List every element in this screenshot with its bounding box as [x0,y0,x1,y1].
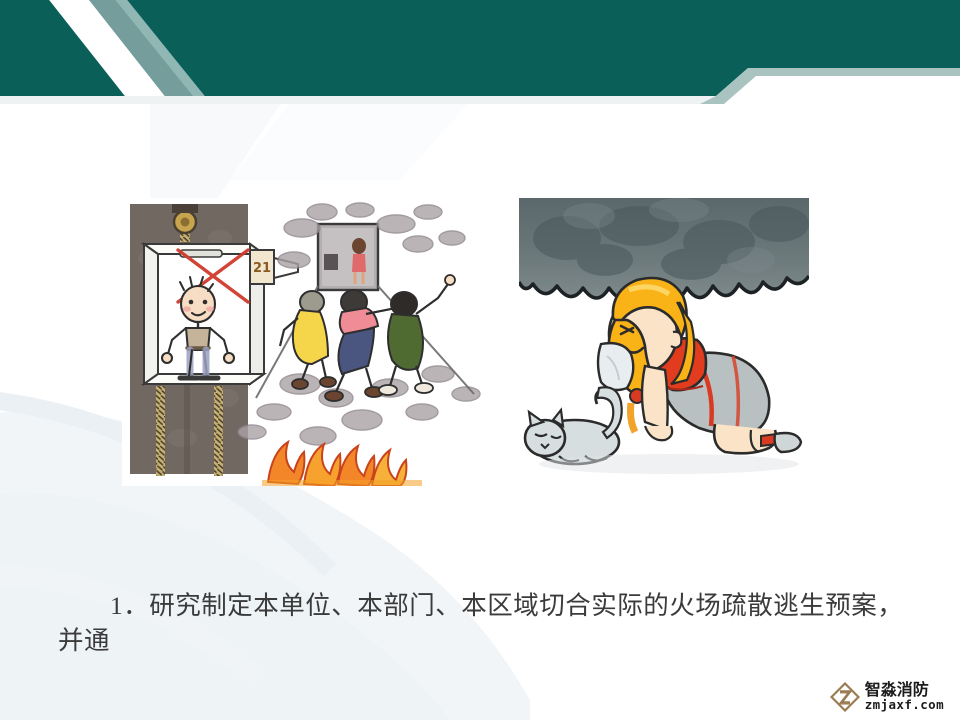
slide-body-paragraph: 1．研究制定本单位、本部门、本区域切合实际的火场疏散逃生预案，并通 过实地演练，… [58,518,914,720]
svg-text:21: 21 [253,261,271,276]
slide-canvas: 21 [0,0,960,720]
crawl-under-smoke-illustration [519,198,809,486]
header-banner [0,0,960,110]
elevator-escape-illustration: 21 [122,198,520,486]
body-line-1: 1．研究制定本单位、本部门、本区域切合实际的火场疏散逃生预案，并通 [58,588,914,658]
logo-company-name: 智淼消防 [865,682,944,698]
logo-website-url: zmjaxf.com [865,699,944,712]
diamond-z-logo-icon [830,682,860,712]
logo-wordmark: 智淼消防 zmjaxf.com [865,682,944,712]
site-watermark-logo: 智淼消防 zmjaxf.com [830,682,944,712]
